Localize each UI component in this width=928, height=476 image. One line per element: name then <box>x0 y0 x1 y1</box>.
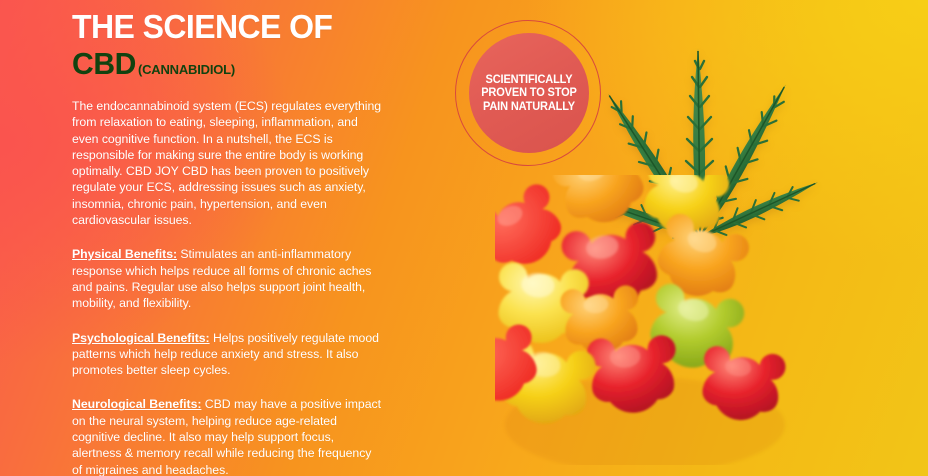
benefit-physical: Physical Benefits: Stimulates an anti-in… <box>72 246 384 311</box>
brand-cbd: CBD <box>72 48 136 79</box>
badge-line-3: PAIN NATURALLY <box>483 100 575 113</box>
badge-text-group: SCIENTIFICALLY PROVEN TO STOP PAIN NATUR… <box>472 33 586 153</box>
benefit-psychological-label: Psychological Benefits: <box>72 331 210 345</box>
benefit-psychological: Psychological Benefits: Helps positively… <box>72 330 384 379</box>
brand-cbd-suffix: (CANNABIDIOL) <box>138 61 235 79</box>
badge-line-1: SCIENTIFICALLY <box>486 73 573 86</box>
benefit-neurological: Neurological Benefits: CBD may have a po… <box>72 396 384 476</box>
badge-line-2: PROVEN TO STOP <box>481 86 577 99</box>
benefit-neurological-label: Neurological Benefits: <box>72 397 201 411</box>
page-title-line2: CBD (CANNABIDIOL) <box>72 48 392 79</box>
benefit-physical-label: Physical Benefits: <box>72 247 177 261</box>
page-title-line1: THE SCIENCE OF <box>72 10 382 44</box>
cbd-science-poster: THE SCIENCE OF CBD (CANNABIDIOL) The end… <box>0 0 928 476</box>
content-column: THE SCIENCE OF CBD (CANNABIDIOL) The end… <box>72 10 392 476</box>
intro-paragraph: The endocannabinoid system (ECS) regulat… <box>72 98 384 228</box>
gummy-bears-cluster <box>495 175 825 465</box>
